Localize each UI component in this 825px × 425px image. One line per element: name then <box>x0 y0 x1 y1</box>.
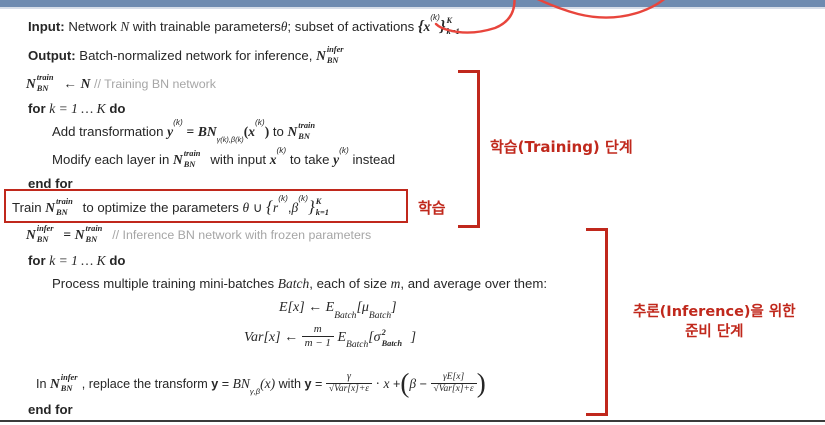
replace-net-sup: infer <box>61 373 78 383</box>
bottom-rule <box>0 420 825 422</box>
algorithm-line-assign-train-net: NtrainBN ← N // Training BN network <box>26 76 216 92</box>
variance-rhs-op: E <box>337 330 346 345</box>
variance-close: ] <box>411 330 416 345</box>
replace-text-a: In <box>36 377 47 391</box>
inference-phase-bracket <box>586 228 608 416</box>
modify-net-sup: train <box>184 149 201 159</box>
for-2-keyword: for <box>28 253 46 268</box>
variance-arg-sup: 2 <box>382 328 386 338</box>
algorithm-line-end-for-2: end for <box>28 402 73 417</box>
algorithm-line-for-2: for k = 1 … K do <box>28 253 125 269</box>
add-arg-sup: (k) <box>255 117 265 127</box>
input-set-limit-bottom: k=1 <box>447 27 460 37</box>
modify-out-sup: (k) <box>339 145 349 155</box>
modify-in-sup: (k) <box>277 145 287 155</box>
train-union: ∪ <box>253 200 263 215</box>
algorithm-line-train-optimize: Train NtrainBN to optimize the parameter… <box>12 197 333 217</box>
process-batch: Batch <box>278 276 310 291</box>
slide-canvas: Input: Network N with trainable paramete… <box>0 0 825 425</box>
variance-arrow: ← <box>284 330 298 345</box>
expectation-rhs-op: E <box>326 300 335 315</box>
replace-net-base: N <box>50 376 60 391</box>
add-arg-base: x <box>248 124 255 139</box>
input-text-c: ; <box>287 19 291 34</box>
algorithm-line-replace-transform: In NinferBN, replace the transform y = B… <box>36 369 486 400</box>
input-set-limit-top: K <box>447 16 453 26</box>
input-text-d: subset of activations <box>295 19 415 34</box>
input-var-n: N <box>120 19 129 34</box>
output-text: Batch-normalized network for inference, <box>79 48 312 63</box>
replace-x: x <box>384 376 390 391</box>
input-label: Input <box>28 19 60 34</box>
output-net-sub: BN <box>327 56 339 66</box>
variance-arg: σ <box>374 330 381 345</box>
output-colon: : <box>71 48 75 63</box>
add-bn: BN <box>198 124 217 139</box>
train-net-sup: train <box>37 73 54 83</box>
replace-frac2-num: γE[x] <box>431 373 477 383</box>
output-label: Output <box>28 48 71 63</box>
variance-fraction: m m − 1 <box>302 324 334 349</box>
variance-frac-num: m <box>302 324 334 336</box>
modify-net-base: N <box>173 152 183 167</box>
algorithm-line-assign-infer-net: NinferBN = NtrainBN // Inference BN netw… <box>26 227 371 243</box>
expectation-arg-sub: Batch <box>369 311 391 321</box>
add-text-a: Add transformation <box>52 124 163 139</box>
expectation-arrow: ← <box>308 300 322 315</box>
replace-text-c: with <box>279 377 301 391</box>
algorithm-line-input: Input: Network N with trainable paramete… <box>28 18 466 36</box>
add-eq: = <box>186 124 194 139</box>
algorithm-line-process-minibatches: Process multiple training mini-batches B… <box>52 276 547 292</box>
add-net-base: N <box>288 124 298 139</box>
train-set-open: { <box>266 197 273 216</box>
replace-net-sub: BN <box>61 384 73 394</box>
formula-expectation: E[x] ← EBatch[μBatch] <box>279 300 397 316</box>
add-y-sup: (k) <box>173 117 183 127</box>
train-net-base: N <box>26 76 36 91</box>
output-net-sup: infer <box>327 45 344 55</box>
algorithm-line-add-transformation: Add transformation y(k) = BNγ(k),β(k)(x(… <box>52 124 321 140</box>
infer-rhs-sub: BN <box>86 235 98 245</box>
variance-arg-sub: Batch <box>382 339 402 349</box>
inference-label-line-1: 추론(Inference)을 위한 <box>633 303 796 323</box>
train-net-comment: // Training BN network <box>94 77 216 91</box>
train-net-arrow: ← <box>63 76 77 91</box>
replace-fraction-2: γE[x] √Var[x]+ε <box>431 373 477 395</box>
infer-lhs-sub: BN <box>37 235 49 245</box>
train-p1-sup: (k) <box>278 193 288 203</box>
train-set-limit-top: K <box>316 197 322 207</box>
replace-frac1-num: γ <box>326 372 372 383</box>
train-opt-net-sub: BN <box>56 208 68 218</box>
infer-eq: = <box>63 227 71 242</box>
modify-text-b: with input <box>210 152 266 167</box>
process-text-a: Process multiple training mini-batches <box>52 276 274 291</box>
inference-label-line-2: 준비 단계 <box>633 323 796 343</box>
modify-text-d: instead <box>353 152 396 167</box>
expectation-arg: μ <box>362 300 369 315</box>
process-text-c: , and average over them: <box>400 276 547 291</box>
add-net-sup: train <box>298 121 315 131</box>
replace-eq1: = <box>222 377 229 391</box>
replace-bn-sub: γ,β <box>250 387 260 396</box>
add-net-sub: BN <box>298 132 310 142</box>
algorithm-line-for-1: for k = 1 … K do <box>28 101 125 117</box>
infer-lhs-base: N <box>26 227 36 242</box>
replace-bn: BN <box>233 376 250 391</box>
train-set-limit-bottom: k=1 <box>316 208 329 218</box>
replace-minus: − <box>420 377 427 391</box>
training-box-korean-label: 학습 <box>418 197 446 218</box>
training-phase-bracket <box>458 70 480 228</box>
expectation-rhs-sub: Batch <box>334 311 356 321</box>
for-1-keyword: for <box>28 101 46 116</box>
for-1-expr: k = 1 … K <box>49 101 105 116</box>
train-opt-net-sup: train <box>56 197 73 207</box>
input-text-a: Network <box>68 19 116 34</box>
variance-rhs-sub: Batch <box>346 340 368 350</box>
inference-phase-korean-label: 추론(Inference)을 위한 준비 단계 <box>633 303 796 342</box>
expectation-close: ] <box>391 300 396 315</box>
top-accent-bar-shadow <box>0 7 825 9</box>
input-colon: : <box>60 19 64 34</box>
train-theta: θ <box>242 200 249 215</box>
replace-y2: y <box>304 377 311 391</box>
replace-paren-close: ) <box>477 368 486 398</box>
modify-text-c: to take <box>290 152 330 167</box>
top-accent-bar <box>0 0 825 7</box>
add-bn-sub: γ(k),β(k) <box>217 135 244 144</box>
infer-comment: // Inference BN network with frozen para… <box>112 228 371 242</box>
replace-y1: y <box>211 377 218 391</box>
variance-lhs: Var[x] <box>244 330 281 345</box>
replace-fraction-1: γ √Var[x]+ε <box>326 372 372 394</box>
algorithm-line-modify-layer: Modify each layer in NtrainBN with input… <box>52 152 395 168</box>
modify-in-base: x <box>270 152 277 167</box>
replace-eq2: = <box>315 377 322 391</box>
replace-dot: · <box>376 376 381 391</box>
train-text-a: Train <box>12 200 42 215</box>
modify-net-sub: BN <box>184 160 196 170</box>
output-net-base: N <box>316 48 326 63</box>
for-1-do: do <box>109 101 125 116</box>
variance-frac-den: m − 1 <box>302 336 334 350</box>
input-text-b: with trainable parameters <box>133 19 281 34</box>
train-text-b: to optimize the parameters <box>83 200 239 215</box>
input-set-close: } <box>440 18 446 35</box>
add-arg-close: ) <box>265 124 270 139</box>
modify-text-a: Modify each layer in <box>52 152 169 167</box>
training-phase-korean-label: 학습(Training) 단계 <box>490 136 633 157</box>
replace-frac2-den: √Var[x]+ε <box>431 383 477 395</box>
expectation-lhs: E[x] <box>279 300 305 315</box>
for-2-do: do <box>109 253 125 268</box>
replace-frac1-den: √Var[x]+ε <box>326 383 372 395</box>
infer-rhs-base: N <box>75 227 85 242</box>
train-opt-net-base: N <box>45 200 55 215</box>
add-text-b: to <box>273 124 284 139</box>
train-net-sub: BN <box>37 84 49 94</box>
replace-arg: (x) <box>260 376 275 391</box>
infer-rhs-sup: train <box>86 224 103 234</box>
for-2-expr: k = 1 … K <box>49 253 105 268</box>
train-set-close: } <box>308 197 315 216</box>
algorithm-line-output: Output: Batch-normalized network for inf… <box>28 48 348 64</box>
replace-paren-open: ( <box>400 368 409 398</box>
infer-lhs-sup: infer <box>37 224 54 234</box>
input-set-sup: (k) <box>430 12 440 22</box>
process-m: m <box>391 276 401 291</box>
process-text-b: , each of size <box>309 276 387 291</box>
train-net-rhs: N <box>81 76 91 91</box>
train-p2-sup: (k) <box>298 193 308 203</box>
formula-variance: Var[x] ← m m − 1 EBatch[σ2Batch] <box>244 325 416 350</box>
replace-text-b: , replace the transform <box>82 377 208 391</box>
replace-beta: β <box>409 376 416 391</box>
